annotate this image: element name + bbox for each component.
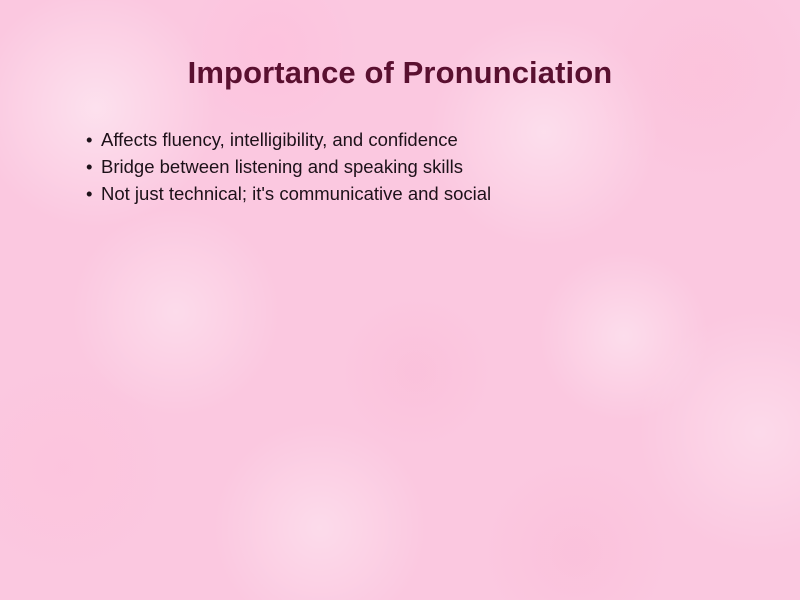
bullet-list: • Affects fluency, intelligibility, and … bbox=[86, 126, 491, 207]
list-item-label: Bridge between listening and speaking sk… bbox=[101, 153, 463, 180]
list-item-label: Affects fluency, intelligibility, and co… bbox=[101, 126, 458, 153]
slide-title: Importance of Pronunciation bbox=[0, 56, 800, 90]
list-item: • Bridge between listening and speaking … bbox=[86, 153, 491, 180]
list-item: • Affects fluency, intelligibility, and … bbox=[86, 126, 491, 153]
bullet-point-icon: • bbox=[86, 153, 101, 180]
list-item: • Not just technical; it's communicative… bbox=[86, 180, 491, 207]
list-item-label: Not just technical; it's communicative a… bbox=[101, 180, 491, 207]
bullet-point-icon: • bbox=[86, 126, 101, 153]
presentation-slide: Importance of Pronunciation • Affects fl… bbox=[0, 0, 800, 600]
bullet-point-icon: • bbox=[86, 180, 101, 207]
